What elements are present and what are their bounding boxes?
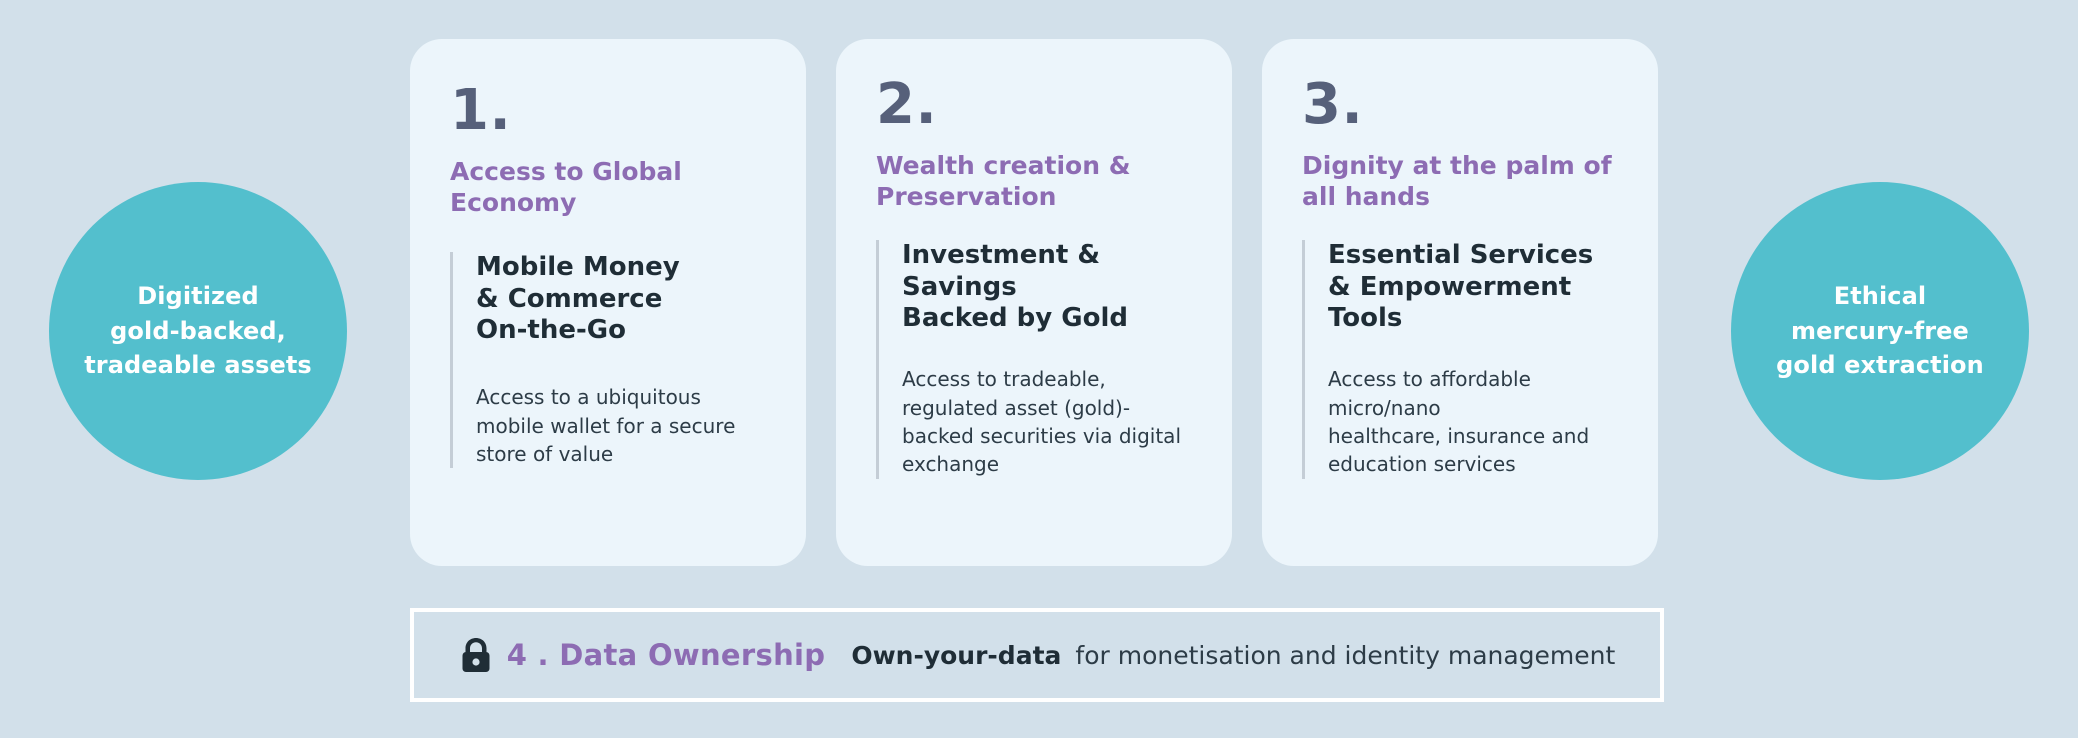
card-3-subtitle: Dignity at the palm of all hands (1302, 151, 1618, 212)
data-ownership-bar-content: 4 . Data Ownership Own-your-data for mon… (459, 636, 1616, 674)
card-1-heading: Mobile Money & Commerce On-the-Go (476, 252, 766, 347)
card-2-number: 2. (876, 77, 1192, 133)
card-1-subtitle: Access to Global Economy (450, 157, 766, 218)
data-ownership-bar[interactable]: 4 . Data Ownership Own-your-data for mon… (410, 608, 1664, 702)
right-circle-badge: Ethical mercury-free gold extraction (1731, 182, 2029, 480)
card-2-heading: Investment & Savings Backed by Gold (902, 240, 1192, 335)
card-3-description: Access to affordable micro/nano healthca… (1328, 365, 1618, 479)
card-3-heading: Essential Services & Empowerment Tools (1328, 240, 1618, 335)
data-ownership-label: 4 . Data Ownership (507, 638, 826, 672)
card-1-description: Access to a ubiquitous mobile wallet for… (476, 383, 766, 468)
left-circle-badge: Digitized gold-backed, tradeable assets (49, 182, 347, 480)
card-1-number: 1. (450, 83, 766, 139)
pillar-card-2[interactable]: 2. Wealth creation & Preservation Invest… (836, 39, 1232, 566)
card-3-number: 3. (1302, 77, 1618, 133)
card-1-body: Mobile Money & Commerce On-the-Go Access… (450, 252, 766, 468)
own-your-data-strong: Own-your-data (851, 641, 1061, 670)
infographic-stage: Digitized gold-backed, tradeable assets … (0, 0, 2078, 738)
left-circle-text: Digitized gold-backed, tradeable assets (66, 279, 330, 383)
pillar-cards-row: 1. Access to Global Economy Mobile Money… (410, 39, 1658, 566)
card-2-body: Investment & Savings Backed by Gold Acce… (876, 240, 1192, 479)
pillar-card-3[interactable]: 3. Dignity at the palm of all hands Esse… (1262, 39, 1658, 566)
card-2-description: Access to tradeable, regulated asset (go… (902, 365, 1192, 479)
lock-icon (459, 636, 493, 674)
right-circle-text: Ethical mercury-free gold extraction (1758, 279, 2002, 383)
card-2-subtitle: Wealth creation & Preservation (876, 151, 1192, 212)
card-3-body: Essential Services & Empowerment Tools A… (1302, 240, 1618, 479)
own-your-data-rest: for monetisation and identity management (1075, 641, 1615, 670)
pillar-card-1[interactable]: 1. Access to Global Economy Mobile Money… (410, 39, 806, 566)
